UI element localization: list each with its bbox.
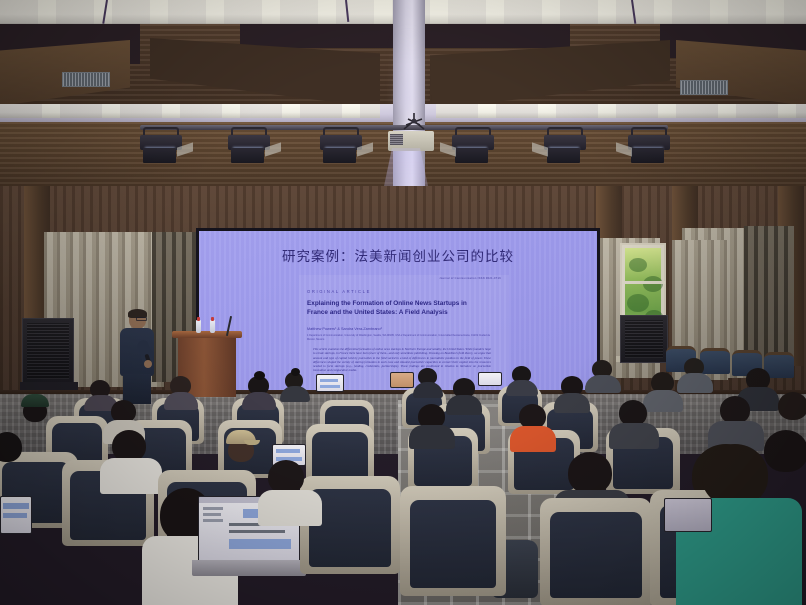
person-head — [268, 460, 304, 494]
spotlight-body-lower — [547, 148, 580, 163]
water-bottle[interactable] — [196, 320, 201, 333]
ceiling-vent — [62, 72, 110, 87]
article-section-label: ORIGINAL ARTICLE — [307, 289, 371, 294]
person-head — [764, 430, 806, 472]
person-shoulders — [242, 392, 276, 410]
foliage-blob — [627, 294, 649, 312]
audience-member — [448, 378, 480, 410]
person-head — [568, 452, 612, 494]
document-text-line — [229, 530, 285, 533]
laptop-device[interactable] — [478, 372, 502, 386]
audience-member-orange — [512, 404, 554, 448]
speaker-grill — [27, 323, 69, 379]
audience-member — [104, 430, 158, 492]
projector-light-haze — [398, 30, 418, 110]
person-shoulders — [585, 375, 621, 393]
audience-member-with-cap — [18, 398, 54, 434]
document-text-line — [320, 385, 340, 388]
hair-bun — [291, 368, 300, 376]
window-mullion — [625, 281, 665, 284]
pa-speaker-right — [620, 315, 668, 363]
ceiling-fluorescent-row — [436, 104, 806, 118]
audience-member — [712, 396, 760, 446]
hair-bun — [254, 371, 265, 380]
person-shoulders — [280, 386, 310, 402]
document-text-line — [229, 539, 291, 549]
person-head — [702, 444, 768, 506]
spotlight-body-lower — [323, 148, 356, 163]
seat-backrest — [410, 500, 497, 588]
glasses-icon — [136, 317, 147, 321]
cap-brim — [244, 440, 260, 445]
projector-vent-grill — [390, 134, 403, 145]
audience-member — [415, 368, 441, 394]
audience-member — [244, 376, 274, 404]
tablet-device[interactable] — [0, 496, 32, 534]
seat-backrest — [550, 512, 642, 598]
ceiling-vent — [680, 80, 728, 95]
document-text-line — [320, 379, 338, 382]
spotlight-body-lower — [631, 148, 664, 163]
presenter-speaker — [116, 310, 160, 402]
laptop-device[interactable] — [316, 374, 344, 392]
audience-member — [0, 432, 34, 492]
pa-speaker-left — [22, 318, 74, 384]
laptop-screen — [664, 498, 712, 532]
document-sidebar — [203, 519, 223, 522]
projector-mount-rig — [400, 113, 428, 133]
spotlight-body-lower — [231, 148, 264, 163]
stage-spotlight — [228, 127, 270, 167]
audience-member — [612, 400, 656, 444]
auditorium-seat[interactable] — [400, 486, 506, 596]
audience-member — [556, 376, 588, 408]
person-shoulders — [258, 490, 322, 526]
laptop-device[interactable] — [390, 372, 414, 388]
article-affiliations-text: 1 Department of Communication, Universit… — [307, 334, 497, 341]
person-shoulders — [409, 425, 455, 449]
document-text-line — [3, 503, 29, 509]
stage-spotlight — [628, 127, 670, 167]
slide-title-chinese: 研究案例：法美新闻创业公司的比较 — [199, 245, 597, 265]
foliage-blob — [643, 276, 663, 292]
foliage-blob — [629, 258, 647, 272]
person-shoulders — [677, 373, 713, 393]
audience-member — [764, 430, 806, 500]
audience-member — [412, 404, 452, 442]
stage-spotlight — [544, 127, 586, 167]
stage-spotlight — [452, 127, 494, 167]
lectern-top — [172, 331, 242, 338]
audience-member — [282, 372, 308, 398]
water-bottle[interactable] — [210, 320, 215, 333]
person-shoulders — [413, 382, 443, 398]
person-shoulders — [506, 380, 538, 396]
ceiling-fluorescent-row — [0, 104, 380, 118]
audience-member — [588, 360, 618, 390]
auditorium-photo: 研究案例：法美新闻创业公司的比较 Journal of Communicatio… — [0, 0, 806, 605]
audience-member — [166, 376, 196, 404]
spotlight-body-lower — [455, 148, 488, 163]
seat-backrest — [312, 432, 368, 480]
document-text-line — [276, 449, 300, 453]
laptop-device[interactable] — [664, 498, 712, 532]
laptop-screen — [316, 374, 344, 392]
audience-member — [508, 366, 536, 392]
person-head — [720, 396, 750, 424]
speaker-grill — [625, 320, 663, 358]
article-title-text: Explaining the Formation of Online News … — [307, 300, 487, 317]
laptop-screen — [390, 372, 414, 388]
audience-member — [262, 460, 318, 520]
audience-member — [680, 358, 710, 390]
person-shoulders — [554, 393, 590, 413]
presenter-hand — [144, 360, 152, 368]
person-shoulders — [164, 392, 198, 410]
laptop-screen — [478, 372, 502, 386]
document-text-line — [3, 513, 27, 518]
stage-spotlight — [140, 127, 182, 167]
projection-screen: 研究案例：法美新闻创业公司的比较 Journal of Communicatio… — [199, 231, 597, 393]
person-head — [0, 432, 22, 462]
stage-spotlight — [320, 127, 362, 167]
document-sidebar — [203, 507, 223, 510]
tablet-screen — [0, 496, 32, 534]
document-sidebar — [203, 513, 221, 516]
article-authors-text: Matthew Powers¹ & Sandra Vera-Zambrano² — [307, 327, 382, 331]
spotlight-body-lower — [143, 148, 176, 163]
laptop-keyboard-base[interactable] — [192, 560, 306, 576]
journal-header-text: Journal of Communication ISSN 0021-9716 — [439, 277, 501, 280]
audience-member-with-cap — [222, 432, 262, 472]
auditorium-seat[interactable] — [540, 498, 652, 605]
person-head — [778, 392, 806, 420]
person-shoulders — [609, 423, 659, 449]
baseball-cap — [21, 394, 49, 407]
article-abstract-text: This article examines the differential f… — [313, 347, 491, 373]
person-shoulders — [510, 426, 556, 452]
